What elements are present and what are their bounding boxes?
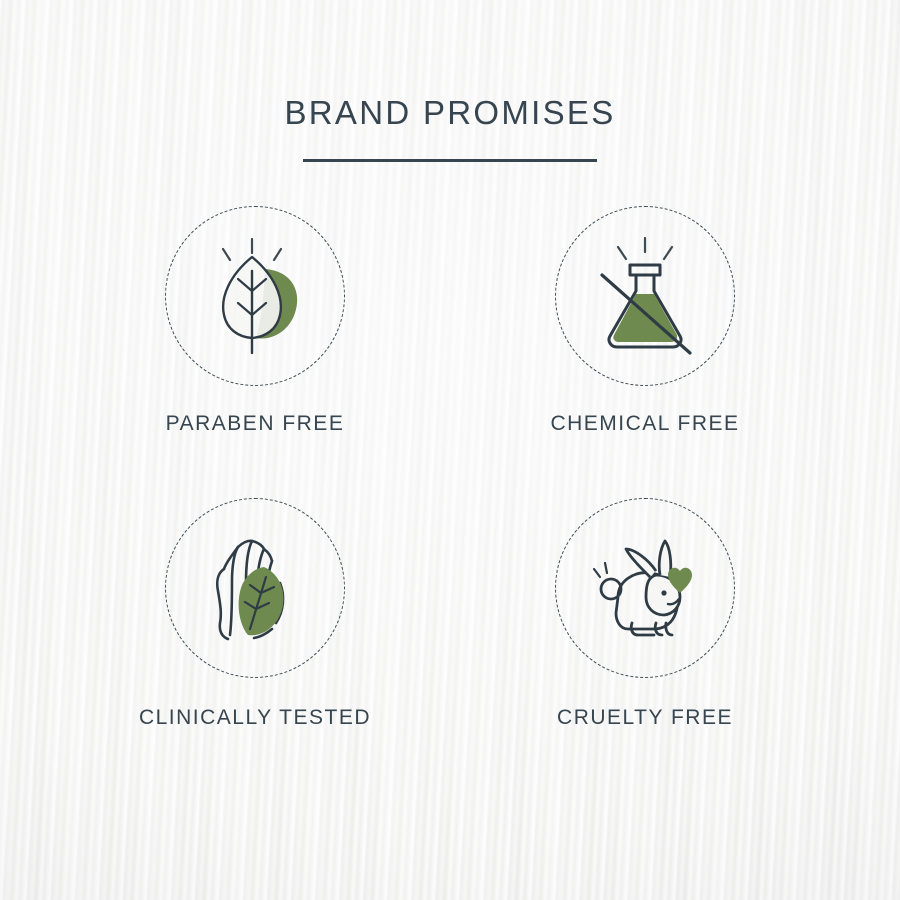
- promise-card-clinically-tested[interactable]: CLINICALLY TESTED: [90, 498, 420, 730]
- badge-circle-paraben-free: [165, 206, 345, 386]
- promise-card-cruelty-free[interactable]: CRUELTY FREE: [480, 498, 810, 730]
- badge-circle-clinically-tested: [165, 498, 345, 678]
- promise-label-cruelty-free: CRUELTY FREE: [557, 706, 733, 730]
- rabbit-heart-icon: [580, 523, 710, 653]
- promise-label-chemical-free: CHEMICAL FREE: [550, 412, 739, 436]
- title-divider-rule: [303, 159, 597, 162]
- leaf-icon: [190, 231, 320, 361]
- promise-label-clinically-tested: CLINICALLY TESTED: [139, 706, 371, 730]
- flask-crossed-out-icon: [580, 231, 710, 361]
- brand-promises-page: BRAND PROMISES: [0, 0, 900, 900]
- header: BRAND PROMISES: [284, 96, 615, 162]
- promise-label-paraben-free: PARABEN FREE: [166, 412, 345, 436]
- badge-circle-cruelty-free: [555, 498, 735, 678]
- hand-leaf-icon: [190, 523, 320, 653]
- promise-card-chemical-free[interactable]: CHEMICAL FREE: [480, 206, 810, 436]
- page-title: BRAND PROMISES: [284, 96, 615, 129]
- promise-card-paraben-free[interactable]: PARABEN FREE: [90, 206, 420, 436]
- badge-circle-chemical-free: [555, 206, 735, 386]
- promise-grid: PARABEN FREE: [60, 206, 840, 730]
